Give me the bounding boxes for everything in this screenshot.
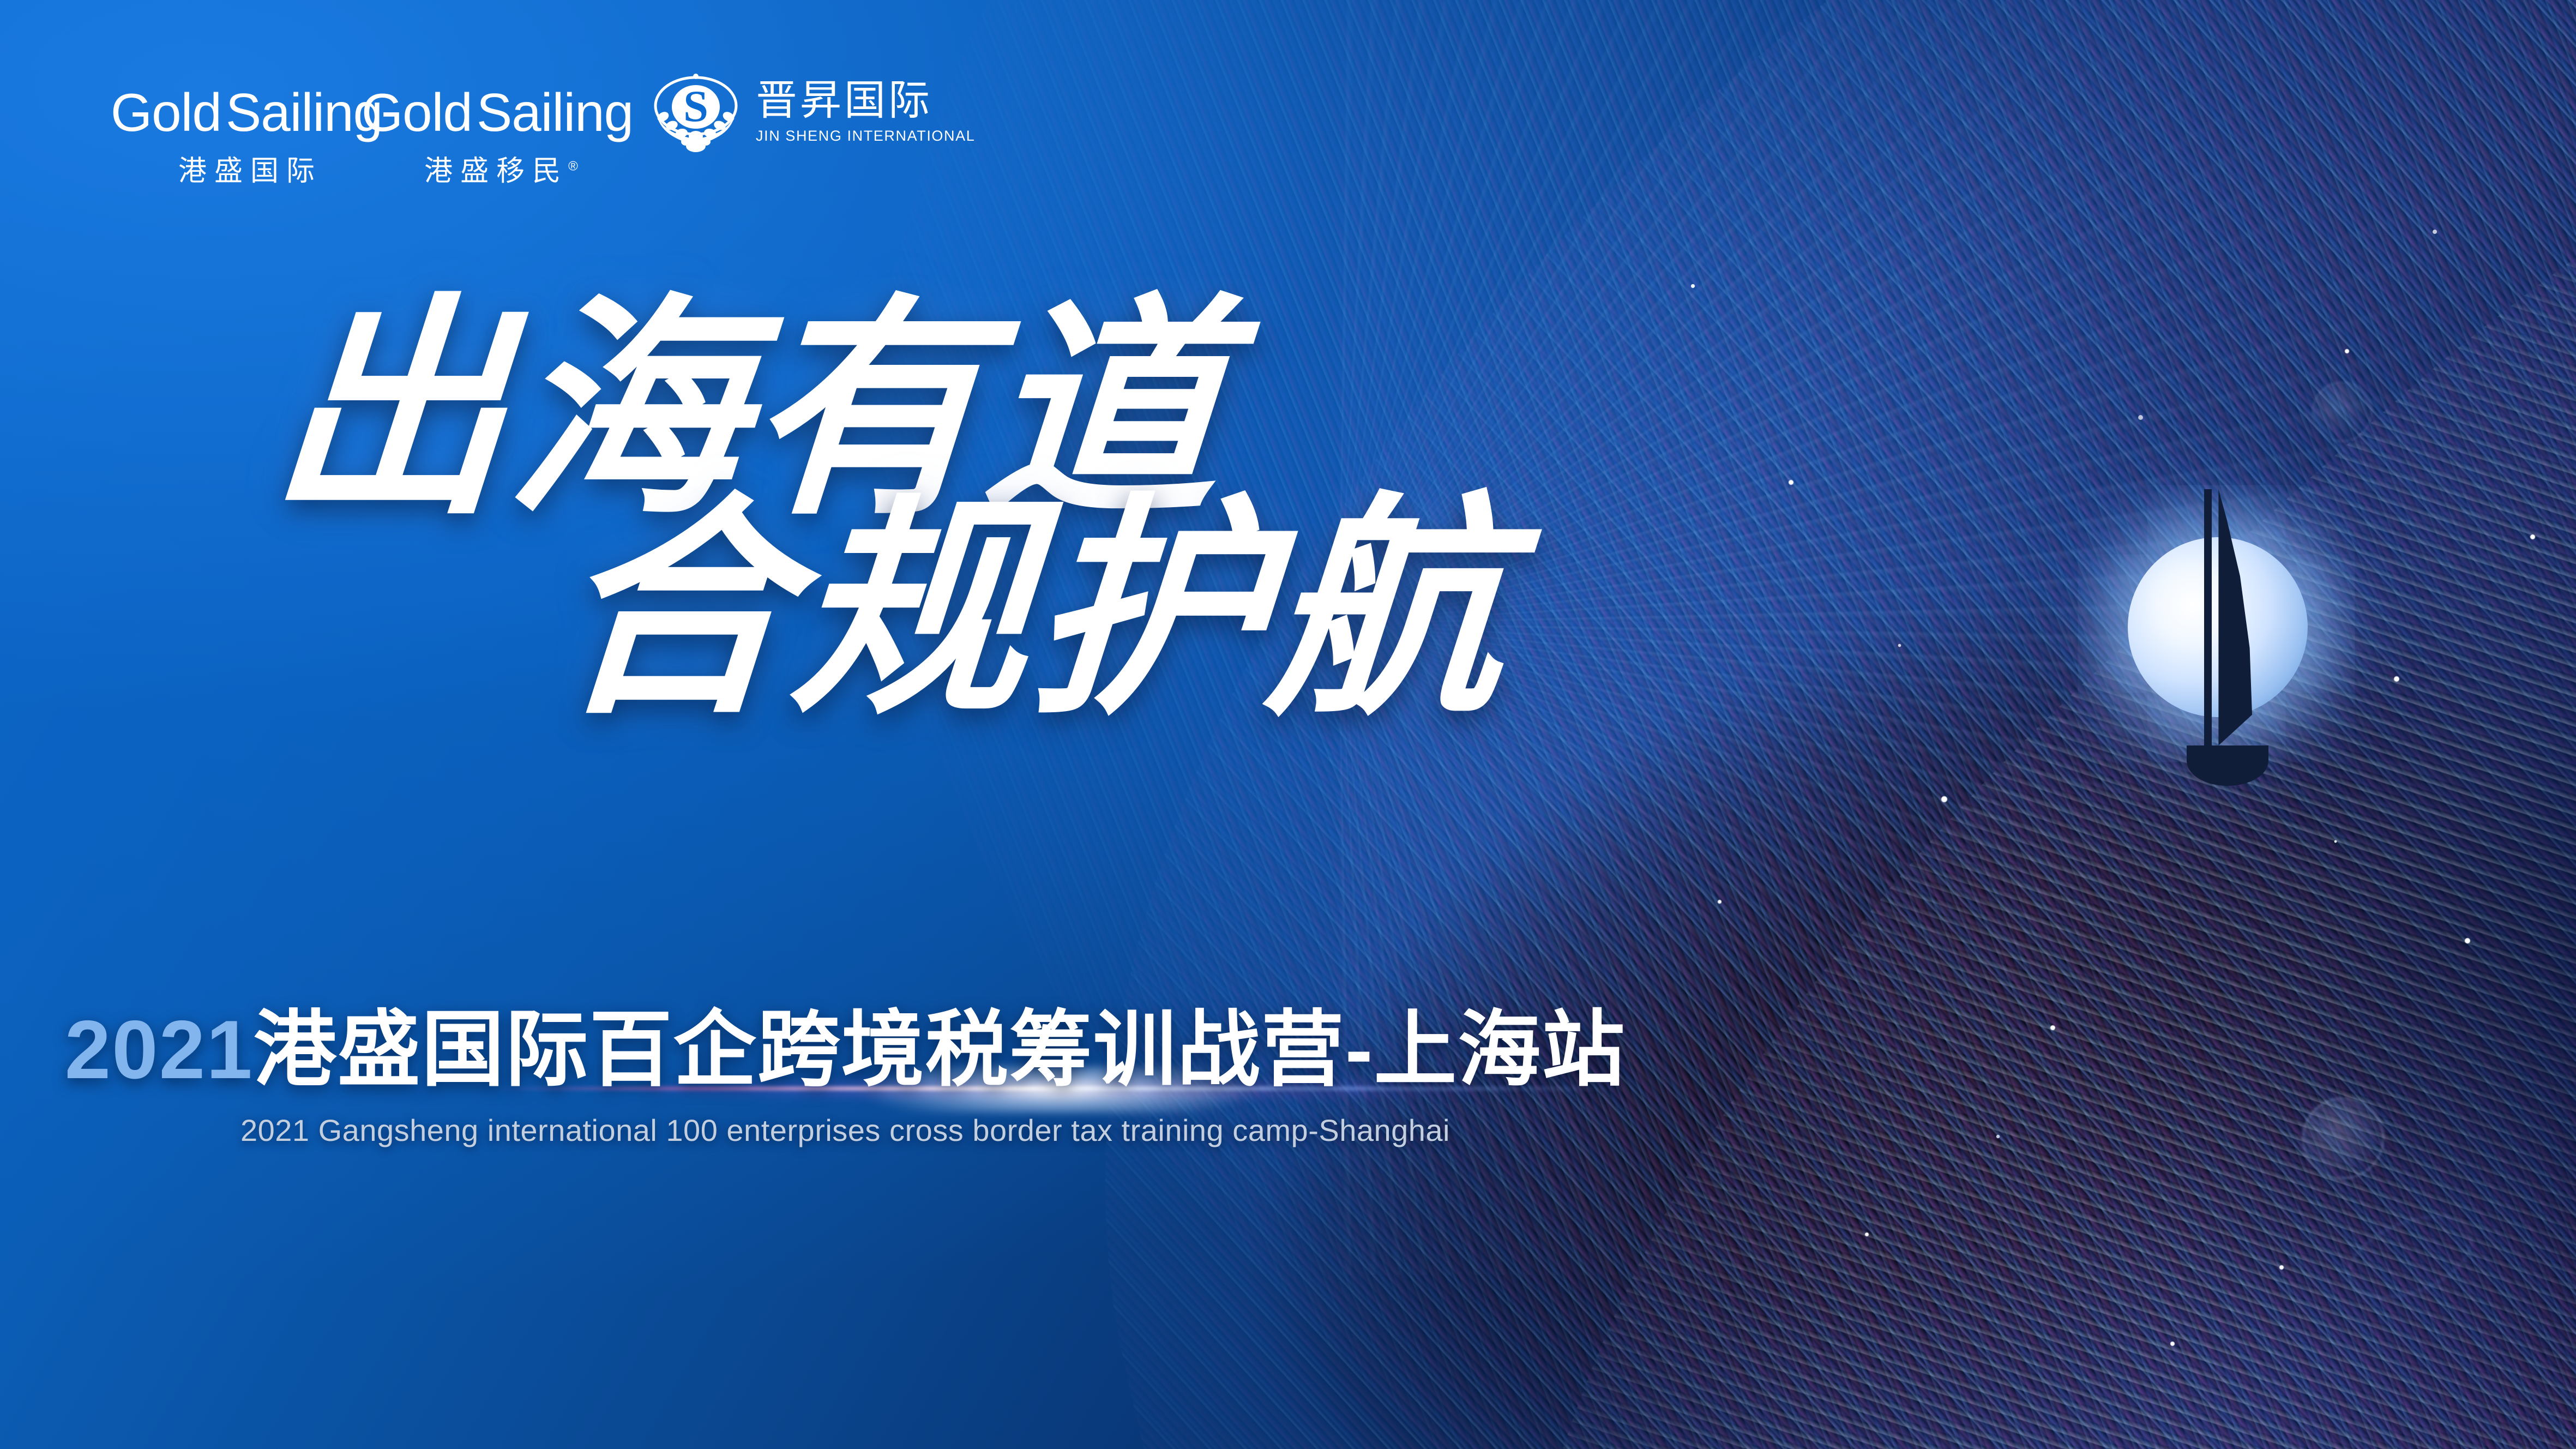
background-effects: [0, 0, 2576, 1449]
svg-text:S: S: [683, 81, 708, 131]
vortex-core: [992, 119, 2576, 1449]
logo-chinese-text: 港盛移民: [424, 155, 568, 187]
star-dot: [2170, 1342, 2175, 1346]
logo-wordmark: Gold Sailing: [121, 65, 372, 139]
boat-hull: [2187, 745, 2268, 786]
star-dot: [2050, 1025, 2055, 1030]
moon-icon: [2128, 537, 2308, 717]
star-dot: [1718, 900, 1722, 904]
star-dot: [2394, 676, 2399, 682]
logo-word-gold: Gold: [362, 86, 472, 139]
headline-line-1: 出海有道: [265, 305, 1785, 521]
bubble-orb: [2312, 382, 2372, 442]
subtitle-block: 2021港盛国际百企跨境税筹训战营-上海站 2021 Gangsheng int…: [0, 1006, 1690, 1148]
subtitle-chinese-text: 港盛国际百企跨境税筹训战营-上海站: [254, 1003, 1626, 1096]
logo-wordmark: Gold Sailing: [372, 65, 623, 139]
bubble-orb: [2336, 1200, 2484, 1314]
registered-mark-icon: ®: [568, 159, 578, 174]
logo-jin-sheng-international[interactable]: S 晋昇国际 JIN SHENG INTERNATIONAL: [648, 65, 975, 155]
sail-mast: [2204, 489, 2212, 745]
logo-bar: Gold Sailing 港盛国际 Gold Sailing 港盛移民® S: [121, 65, 975, 189]
laurel-wreath-emblem-icon: S: [648, 69, 744, 155]
star-dot: [1941, 796, 1947, 802]
star-dot: [1789, 480, 1793, 485]
logo-english-name: JIN SHENG INTERNATIONAL: [756, 128, 975, 145]
subtitle-chinese: 2021港盛国际百企跨境税筹训战营-上海站: [0, 1006, 1690, 1094]
logo-text-block: 晋昇国际 JIN SHENG INTERNATIONAL: [756, 79, 975, 145]
star-dot: [2345, 349, 2349, 353]
logo-gold-sailing-immigration[interactable]: Gold Sailing 港盛移民®: [372, 65, 623, 189]
star-dot: [2465, 938, 2470, 943]
subtitle-english: 2021 Gangsheng international 100 enterpr…: [0, 1113, 1690, 1148]
star-field: [0, 0, 2576, 1449]
headline-line-2: 合规护航: [549, 505, 1785, 721]
event-banner: Gold Sailing 港盛国际 Gold Sailing 港盛移民® S: [0, 0, 2576, 1449]
star-dot: [2279, 1265, 2284, 1270]
light-streaks-primary: [856, 0, 2576, 1449]
logo-word-gold: Gold: [111, 86, 221, 139]
bubble-orb: [2302, 1097, 2384, 1179]
light-streaks-tertiary: [1018, 0, 2576, 1449]
star-dot: [2530, 534, 2535, 539]
star-dot: [1865, 1232, 1869, 1236]
sailboat-moon-graphic: [2128, 537, 2308, 717]
logo-word-sailing: Sailing: [226, 86, 382, 139]
logo-gold-sailing-international[interactable]: Gold Sailing 港盛国际: [121, 65, 372, 189]
logo-chinese-name: 港盛移民®: [372, 148, 623, 189]
logo-chinese-name: 港盛国际: [121, 148, 372, 189]
light-streaks-secondary: [622, 0, 2576, 1449]
logo-word-sailing: Sailing: [477, 86, 633, 139]
headline: 出海有道 合规护航: [0, 305, 1778, 720]
subtitle-year: 2021: [65, 1003, 254, 1096]
logo-chinese-name: 晋昇国际: [756, 79, 975, 123]
